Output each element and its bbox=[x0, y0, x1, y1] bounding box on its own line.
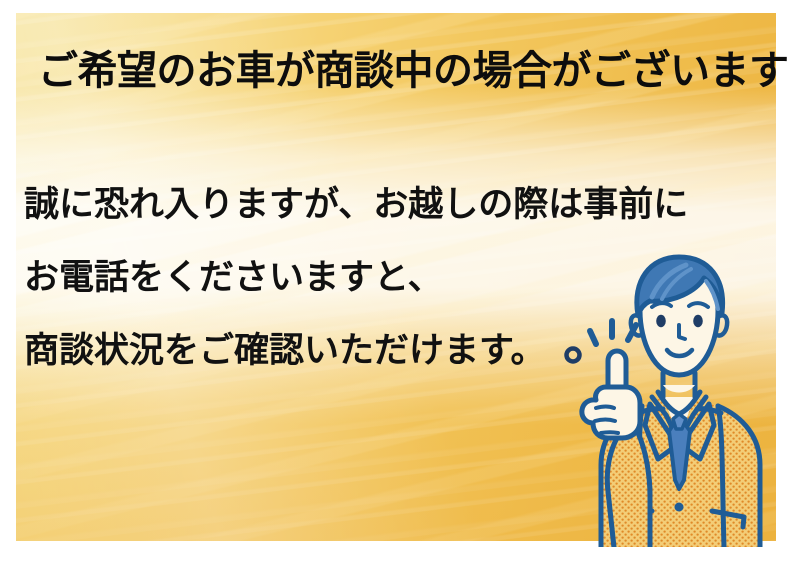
body-line-3: 商談状況をご確認いただけます。 bbox=[24, 314, 604, 387]
body-line-1: 誠に恐れ入りますが、お越しの際は事前に bbox=[24, 168, 604, 241]
body-line-2: お電話をくださいますと、 bbox=[24, 241, 604, 314]
notice-banner: ご希望のお車が商談中の場合がございます 誠に恐れ入りますが、お越しの際は事前に … bbox=[0, 0, 800, 565]
page-title: ご希望のお車が商談中の場合がございます bbox=[38, 48, 738, 95]
body-text: 誠に恐れ入りますが、お越しの際は事前に お電話をくださいますと、 商談状況をご確… bbox=[24, 168, 604, 387]
